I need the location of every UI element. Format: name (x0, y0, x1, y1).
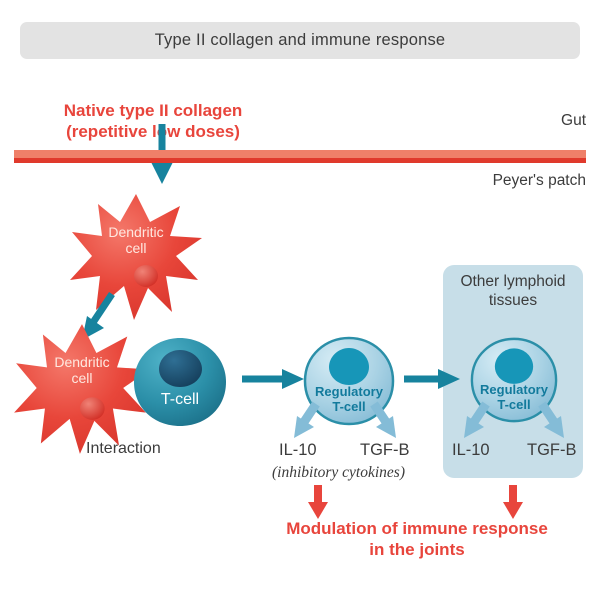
peyers-patch-label: Peyer's patch (493, 172, 586, 190)
outcome-line2: in the joints (369, 540, 464, 559)
t-cell-to-treg-arrow-icon (242, 366, 306, 392)
inhibitory-cytokines-note: (inhibitory cytokines) (272, 464, 405, 482)
page-title: Type II collagen and immune response (155, 31, 446, 50)
tgfb-arrow-lymphoid-icon (530, 400, 572, 444)
cytokine-il10-lymphoid: IL-10 (452, 441, 490, 460)
treg-to-lymphoid-arrow-icon (404, 366, 462, 392)
other-lymphoid-tissues-label: Other lymphoid tissues (443, 272, 583, 310)
gut-barrier (14, 150, 586, 163)
il10-arrow-lymphoid-icon (458, 400, 498, 444)
diagram-canvas: Type II collagen and immune response Nat… (0, 0, 600, 600)
outcome-arrow-right-icon (500, 485, 526, 521)
cytokine-il10-main: IL-10 (279, 441, 317, 460)
interaction-label: Interaction (86, 440, 161, 458)
outcome-arrow-left-icon (305, 485, 331, 521)
il10-arrow-main-icon (288, 400, 328, 444)
gut-label: Gut (561, 112, 586, 130)
outcome-line1: Modulation of immune response (286, 519, 548, 538)
input-label-line1: Native type II collagen (64, 101, 243, 120)
cytokine-tgfb-main: TGF-B (360, 441, 410, 460)
gut-barrier-bottom (14, 158, 586, 163)
cytokine-tgfb-lymphoid: TGF-B (527, 441, 577, 460)
gut-barrier-top (14, 150, 586, 158)
outcome-label: Modulation of immune response in the joi… (252, 518, 582, 560)
dendritic-cell-lower: Dendritic cell (12, 322, 152, 456)
title-bar: Type II collagen and immune response (20, 22, 580, 59)
tgfb-arrow-main-icon (362, 400, 404, 444)
t-cell: T-cell (132, 336, 228, 428)
